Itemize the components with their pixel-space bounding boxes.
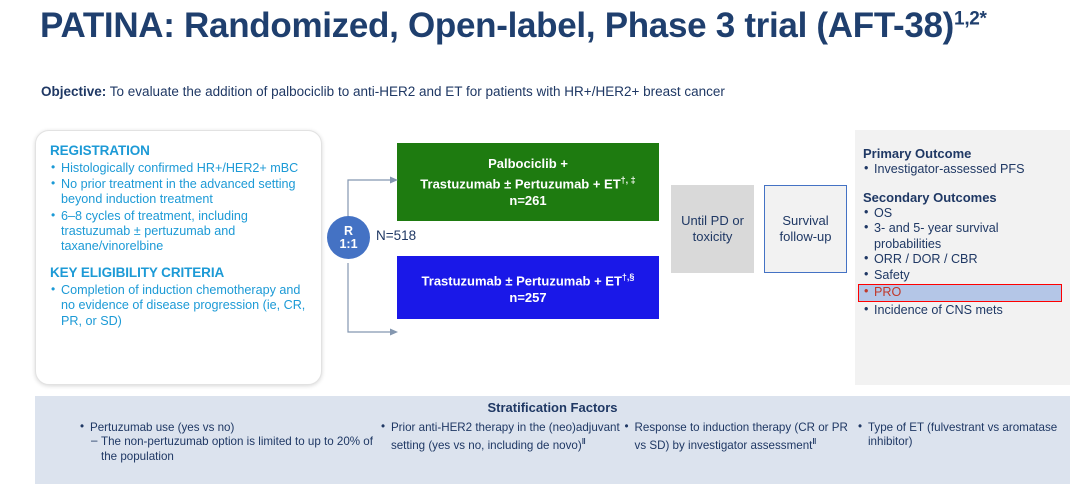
list-item: Response to induction therapy (CR or PR … — [624, 421, 857, 454]
primary-outcome-heading: Primary Outcome — [863, 146, 1062, 161]
objective-text: To evaluate the addition of palbociclib … — [106, 84, 725, 99]
page-title: PATINA: Randomized, Open-label, Phase 3 … — [40, 6, 1070, 46]
arm-sample-size: n=261 — [509, 192, 546, 209]
objective-line: Objective: To evaluate the addition of p… — [41, 84, 1061, 99]
randomization-letter: R — [344, 225, 353, 238]
list-subitem: The non-pertuzumab option is limited to … — [79, 435, 380, 464]
randomization-ratio: 1:1 — [339, 238, 357, 251]
stratification-columns: Pertuzumab use (yes vs no) The non-pertu… — [35, 415, 1070, 464]
arm-regimen: Trastuzumab ± Pertuzumab + ET — [422, 273, 622, 288]
list-item: Type of ET (fulvestrant vs aromatase inh… — [857, 421, 1060, 450]
list-item: Investigator-assessed PFS — [863, 162, 1062, 178]
stage-box-survival-followup: Survival follow-up — [764, 185, 847, 273]
secondary-outcome-heading: Secondary Outcomes — [863, 190, 1062, 205]
stratification-list: Prior anti-HER2 therapy in the (neo)adju… — [380, 421, 624, 454]
list-item: Pertuzumab use (yes vs no) — [79, 421, 380, 435]
stratification-panel: Stratification Factors Pertuzumab use (y… — [35, 396, 1070, 484]
registration-criteria-list: Histologically confirmed HR+/HER2+ mBC N… — [50, 161, 309, 254]
list-item: Safety — [863, 268, 1062, 284]
list-item: Completion of induction chemotherapy and… — [50, 283, 309, 329]
stage-box-until-pd: Until PD or toxicity — [671, 185, 754, 273]
list-item: Histologically confirmed HR+/HER2+ mBC — [50, 161, 309, 176]
list-item: ORR / DOR / CBR — [863, 252, 1062, 268]
stratification-title: Stratification Factors — [35, 396, 1070, 415]
stratification-column: Pertuzumab use (yes vs no) The non-pertu… — [45, 421, 380, 464]
stratification-list: Response to induction therapy (CR or PR … — [624, 421, 857, 454]
highlighted-outcome-pro: PRO — [858, 284, 1062, 302]
list-item: Prior anti-HER2 therapy in the (neo)adju… — [380, 421, 624, 454]
footnote-marker: ‖ — [812, 437, 816, 446]
page-title-superscript: 1,2* — [954, 8, 987, 29]
stratification-column: Prior anti-HER2 therapy in the (neo)adju… — [380, 421, 624, 464]
arm-footnote-marker: †,§ — [622, 272, 635, 282]
stratification-column: Type of ET (fulvestrant vs aromatase inh… — [857, 421, 1060, 464]
arm-sample-size: n=257 — [509, 289, 546, 306]
footnote-marker: ‖ — [582, 437, 586, 446]
outcomes-panel: Primary Outcome Investigator-assessed PF… — [855, 130, 1070, 385]
eligibility-heading: KEY ELIGIBILITY CRITERIA — [50, 265, 309, 280]
arm-regimen: Trastuzumab ± Pertuzumab + ET — [420, 176, 620, 191]
stratification-list: Pertuzumab use (yes vs no) The non-pertu… — [79, 421, 380, 464]
page-title-text: PATINA: Randomized, Open-label, Phase 3 … — [40, 6, 954, 45]
registration-heading: REGISTRATION — [50, 143, 309, 158]
list-item: 6–8 cycles of treatment, including trast… — [50, 209, 309, 255]
arm-footnote-marker: †, ‡ — [621, 175, 636, 185]
secondary-outcome-list: OS 3- and 5- year survival probabilities… — [863, 206, 1062, 319]
list-item: 3- and 5- year survival probabilities — [863, 221, 1062, 252]
stratification-column: Response to induction therapy (CR or PR … — [624, 421, 857, 464]
registration-card: REGISTRATION Histologically confirmed HR… — [35, 130, 322, 385]
list-item: Incidence of CNS mets — [863, 303, 1062, 319]
arm-line-2: Trastuzumab ± Pertuzumab + ET†,§ — [422, 269, 635, 289]
objective-label: Objective: — [41, 84, 106, 99]
eligibility-criteria-list: Completion of induction chemotherapy and… — [50, 283, 309, 329]
stratification-list: Type of ET (fulvestrant vs aromatase inh… — [857, 421, 1060, 450]
stage-label: Survival follow-up — [765, 213, 846, 245]
arm-line-2: Trastuzumab ± Pertuzumab + ET†, ‡ — [420, 172, 635, 192]
stage-label: Until PD or toxicity — [671, 213, 754, 245]
randomization-circle: R 1:1 — [327, 216, 370, 259]
primary-outcome-list: Investigator-assessed PFS — [863, 162, 1062, 178]
list-item: OS — [863, 206, 1062, 222]
list-item: No prior treatment in the advanced setti… — [50, 177, 309, 207]
arm-line-1: Palbociclib + — [488, 155, 568, 172]
